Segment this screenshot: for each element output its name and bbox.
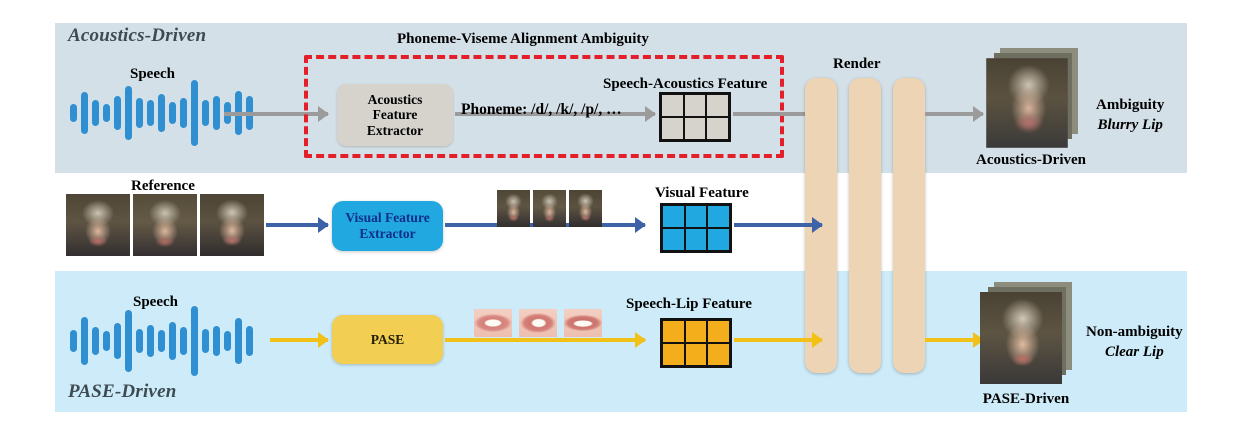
figure-canvas: Acoustics-Driven PASE-Driven Speech Phon…: [0, 0, 1243, 446]
feature-cell: [684, 117, 707, 140]
waveform-bar: [235, 318, 242, 364]
arrow-visual-feature-to-render: [734, 223, 822, 227]
waveform-bar: [103, 104, 110, 122]
reference-frame-2: [133, 194, 197, 256]
render-label: Render: [833, 56, 881, 73]
acoustics-driven-note: Ambiguity Blurry Lip: [1096, 95, 1164, 136]
feature-cell: [661, 117, 684, 140]
arrow-pase-to-lip-feature: [445, 338, 645, 342]
visual-thumb-2: [533, 190, 566, 227]
waveform-bar: [92, 327, 99, 355]
acoustics-driven-output-stack: [986, 48, 1078, 148]
waveform-bar: [169, 102, 176, 124]
feature-cell: [662, 228, 685, 251]
feature-cell: [706, 117, 729, 140]
acoustics-extractor-line1: Acoustics: [367, 92, 423, 108]
feature-cell: [685, 320, 708, 343]
lip-thumb-1: [474, 309, 512, 337]
acoustics-extractor-line2: Feature: [367, 107, 423, 123]
feature-cell: [661, 94, 684, 117]
reference-frame-1: [66, 194, 130, 256]
feature-cell: [706, 94, 729, 117]
pase-driven-output-caption: PASE-Driven: [971, 391, 1081, 408]
waveform-bar: [125, 310, 132, 372]
visual-thumb-1: [497, 190, 530, 227]
acoustics-driven-band-label: Acoustics-Driven: [68, 25, 206, 47]
waveform-bar: [191, 306, 198, 376]
pase-label: PASE: [371, 332, 405, 348]
waveform-bar: [147, 325, 154, 357]
waveform-bar: [158, 330, 165, 352]
waveform-bar: [213, 326, 220, 356]
acoustics-feature-extractor-box[interactable]: Acoustics Feature Extractor: [337, 84, 453, 146]
waveform-bar: [169, 322, 176, 360]
arrow-speech-to-pase: [270, 338, 328, 342]
speech-lip-feature-label: Speech-Lip Feature: [626, 296, 752, 313]
waveform-bar: [191, 80, 198, 146]
waveform-bar: [114, 96, 121, 130]
speech-acoustics-feature-label: Speech-Acoustics Feature: [603, 76, 767, 93]
visual-extractor-line2: Extractor: [345, 226, 429, 242]
arrow-lip-feature-to-render: [734, 338, 822, 342]
feature-cell: [662, 343, 685, 366]
waveform-bar: [103, 331, 110, 351]
waveform-bar: [224, 331, 231, 351]
arrow-render-to-acoustics-output: [925, 112, 983, 116]
speech-waveform-pase: [70, 306, 253, 376]
feature-cell: [707, 205, 730, 228]
waveform-bar: [70, 104, 77, 122]
acoustics-note-line2: Blurry Lip: [1096, 115, 1164, 135]
feature-cell: [662, 205, 685, 228]
pase-driven-output-stack: [980, 282, 1076, 386]
reference-frame-3: [200, 194, 264, 256]
visual-thumb-3: [569, 190, 602, 227]
waveform-bar: [213, 96, 220, 130]
render-bar-2: [849, 78, 881, 373]
feature-cell: [707, 343, 730, 366]
visual-feature-extractor-box[interactable]: Visual Feature Extractor: [332, 201, 443, 251]
lip-thumb-2: [519, 309, 557, 337]
visual-feature-thumbnails: [497, 190, 602, 227]
reference-frames: [66, 194, 264, 256]
waveform-bar: [70, 330, 77, 352]
lip-thumb-3: [564, 309, 602, 337]
phoneme-viseme-ambiguity-title: Phoneme-Viseme Alignment Ambiguity: [397, 31, 649, 48]
visual-feature-grid: [660, 203, 732, 253]
waveform-bar: [81, 92, 88, 134]
pase-driven-output-face: [980, 292, 1062, 384]
feature-cell: [685, 228, 708, 251]
visual-extractor-line1: Visual Feature: [345, 210, 429, 226]
waveform-bar: [136, 329, 143, 353]
waveform-bar: [180, 327, 187, 355]
pase-note-line1: Non-ambiguity: [1086, 322, 1183, 342]
waveform-bar: [202, 329, 209, 353]
visual-feature-label: Visual Feature: [655, 185, 749, 202]
feature-cell: [685, 343, 708, 366]
pase-driven-note: Non-ambiguity Clear Lip: [1086, 322, 1183, 363]
waveform-bar: [92, 100, 99, 126]
feature-cell: [684, 94, 707, 117]
pase-note-line2: Clear Lip: [1086, 342, 1183, 362]
waveform-bar: [81, 317, 88, 365]
waveform-bar: [147, 100, 154, 126]
feature-cell: [685, 205, 708, 228]
render-bar-3: [893, 78, 925, 373]
acoustics-driven-output-caption: Acoustics-Driven: [976, 152, 1086, 169]
acoustics-extractor-line3: Extractor: [367, 123, 423, 139]
waveform-bar: [136, 98, 143, 128]
phoneme-sequence-label: Phoneme: /d/, /k/, /p/, …: [461, 101, 622, 119]
waveform-bar: [125, 86, 132, 140]
feature-cell: [707, 320, 730, 343]
acoustics-note-line1: Ambiguity: [1096, 95, 1164, 115]
feature-cell: [662, 320, 685, 343]
pase-box[interactable]: PASE: [332, 315, 443, 364]
lip-thumbnails: [474, 309, 602, 337]
acoustics-driven-output-face: [986, 58, 1068, 148]
speech-lip-feature-grid: [660, 318, 732, 368]
feature-cell: [707, 228, 730, 251]
waveform-bar: [114, 323, 121, 359]
waveform-bar: [180, 98, 187, 128]
reference-label: Reference: [131, 178, 195, 195]
waveform-bar: [158, 94, 165, 132]
arrow-reference-to-visual-extractor: [266, 223, 328, 227]
waveform-bar: [246, 326, 253, 356]
waveform-bar: [202, 100, 209, 126]
pase-driven-band-label: PASE-Driven: [68, 381, 176, 403]
arrow-render-to-pase-output: [925, 338, 983, 342]
speech-acoustics-feature-grid: [659, 92, 731, 142]
